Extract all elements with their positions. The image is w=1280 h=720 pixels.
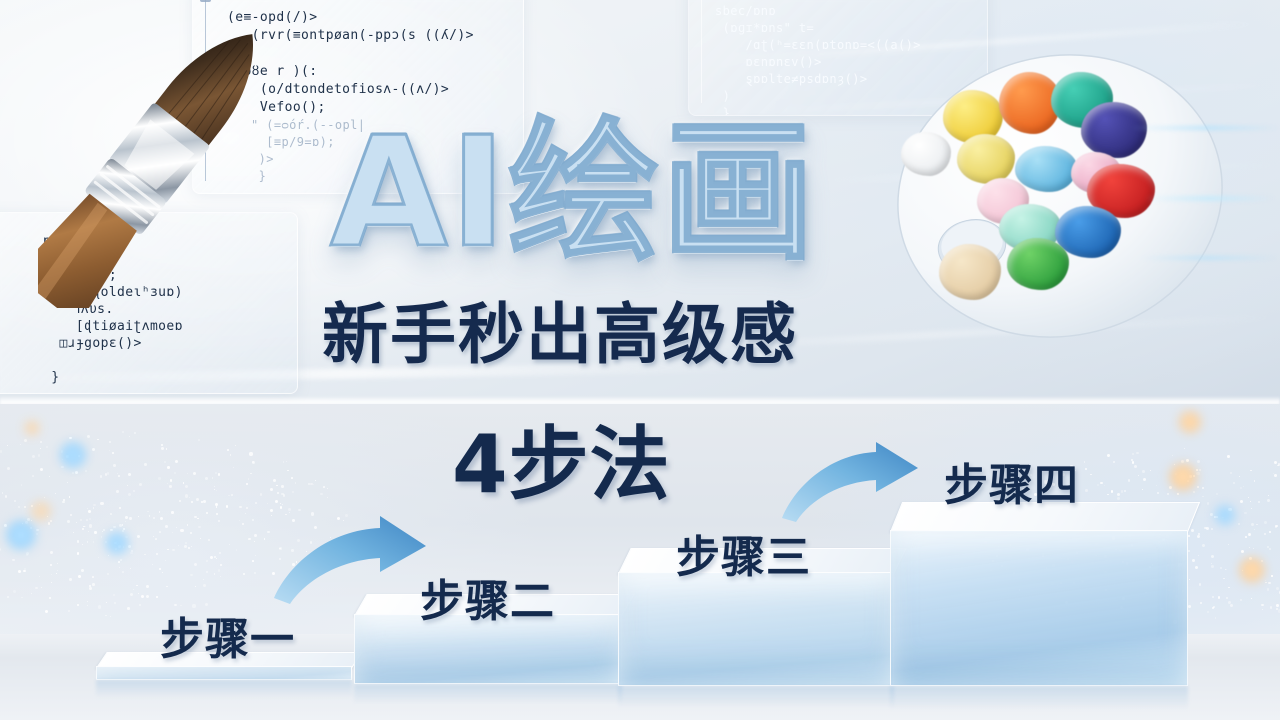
particle	[1250, 470, 1252, 472]
particle	[162, 572, 163, 573]
particle	[283, 461, 285, 463]
particle	[1256, 524, 1257, 525]
particle	[1227, 455, 1230, 458]
particle	[283, 494, 286, 497]
particle	[190, 532, 192, 534]
particle	[1269, 531, 1271, 533]
bokeh-glow	[1214, 504, 1236, 526]
particle	[214, 486, 215, 487]
particle	[1268, 582, 1270, 584]
particle	[191, 546, 192, 547]
particle	[167, 549, 169, 551]
arrow-step-one-to-two	[268, 514, 438, 604]
particle	[1245, 536, 1247, 538]
particle	[7, 445, 8, 446]
particle	[92, 583, 95, 586]
particle	[187, 473, 188, 474]
particle	[128, 473, 131, 476]
particle	[109, 450, 111, 452]
particle	[1191, 529, 1194, 532]
particle	[152, 564, 154, 566]
particle	[166, 586, 168, 588]
palette-blob-sky-blue	[1015, 146, 1077, 192]
particle	[308, 483, 310, 485]
particle	[172, 532, 174, 534]
particle	[112, 452, 114, 454]
particle	[72, 472, 74, 474]
particle	[215, 503, 218, 506]
particle	[1265, 582, 1267, 584]
particle	[164, 461, 166, 463]
particle	[220, 564, 223, 567]
step-reflection	[354, 684, 622, 704]
particle	[51, 574, 52, 575]
particle	[1226, 569, 1227, 570]
particle	[141, 595, 144, 598]
particle	[1121, 490, 1124, 493]
particle	[180, 605, 182, 607]
particle	[1230, 604, 1233, 607]
particle	[1251, 508, 1252, 509]
particle	[252, 560, 254, 562]
particle	[288, 508, 291, 511]
particle	[1107, 494, 1108, 495]
particle	[1128, 479, 1130, 481]
particle	[44, 497, 45, 498]
particle	[205, 477, 208, 480]
particle	[180, 529, 183, 532]
particle	[1142, 470, 1145, 473]
particle	[73, 532, 75, 534]
page-title: AI绘画	[330, 98, 890, 288]
particle	[7, 467, 10, 470]
particle	[1211, 563, 1212, 564]
particle	[1084, 461, 1085, 462]
particle	[107, 472, 110, 475]
step-four-label: 步骤四	[944, 464, 1079, 508]
particle	[206, 512, 208, 514]
particle	[50, 520, 52, 522]
step-front-face	[890, 530, 1188, 686]
particle	[246, 507, 248, 509]
paintbrush-icon	[38, 18, 306, 308]
particle	[231, 494, 233, 496]
particle	[201, 501, 203, 503]
step-four[interactable]	[890, 502, 1188, 690]
particle	[1156, 485, 1158, 487]
particle	[101, 536, 103, 538]
particle	[32, 475, 34, 477]
particle	[1202, 544, 1205, 547]
particle	[1138, 475, 1139, 476]
particle	[208, 539, 210, 541]
particle	[1240, 599, 1242, 601]
particle	[98, 557, 99, 558]
particle	[120, 559, 122, 561]
particle	[7, 596, 9, 598]
particle	[291, 477, 293, 479]
particle	[1184, 448, 1185, 449]
step-reflection	[890, 686, 1188, 710]
paint-palette-icon	[895, 46, 1225, 346]
particle	[1262, 609, 1263, 610]
particle	[82, 544, 83, 545]
particle	[1177, 493, 1179, 495]
particle	[87, 435, 90, 438]
particle	[97, 439, 98, 440]
particle	[82, 528, 84, 530]
particle	[1192, 559, 1195, 562]
particle	[161, 444, 163, 446]
particle	[1124, 490, 1126, 492]
step-one-label: 步骤一	[160, 618, 295, 662]
particle	[138, 593, 140, 595]
particle	[216, 558, 217, 559]
particle	[0, 450, 2, 453]
particle	[41, 587, 42, 588]
particle	[129, 517, 132, 520]
particle	[1261, 604, 1263, 606]
particle	[77, 552, 80, 555]
particle	[287, 470, 288, 471]
particle	[327, 497, 329, 499]
particle	[216, 513, 219, 516]
particle	[119, 567, 121, 569]
particle	[89, 524, 92, 527]
particle	[192, 604, 195, 607]
particle	[1085, 468, 1087, 470]
particle	[118, 561, 121, 564]
particle	[242, 523, 244, 525]
step-reflection	[96, 680, 352, 698]
particle	[203, 500, 206, 503]
particle	[194, 563, 197, 566]
particle	[295, 482, 297, 484]
particle	[1197, 460, 1200, 463]
particle	[39, 576, 40, 577]
particle	[254, 572, 256, 574]
particle	[156, 553, 158, 555]
particle	[281, 485, 284, 488]
particle	[57, 563, 58, 564]
particle	[167, 483, 168, 484]
particle	[280, 503, 281, 504]
particle	[171, 511, 174, 514]
particle	[1210, 513, 1213, 516]
particle	[1230, 472, 1232, 474]
particle	[1195, 566, 1198, 569]
particle	[1265, 580, 1266, 581]
particle	[280, 506, 282, 508]
particle	[286, 461, 288, 463]
particle	[113, 464, 116, 467]
particle	[76, 522, 77, 523]
poster-canvas: (e≡-opd(/)> (rvr(≡ontpøan(-ppɔ(s ((ʎ/)> …	[0, 0, 1280, 720]
particle	[1240, 487, 1242, 489]
particle	[197, 518, 198, 519]
particle	[1241, 550, 1244, 553]
palette-blob-navy	[1081, 102, 1147, 158]
particle	[159, 568, 162, 571]
particle	[113, 594, 115, 596]
particle	[1226, 597, 1228, 599]
particle	[144, 463, 147, 466]
particle	[228, 495, 230, 497]
particle	[1188, 535, 1190, 537]
particle	[170, 479, 173, 482]
particle	[160, 517, 163, 520]
bokeh-glow	[1168, 462, 1198, 492]
particle	[24, 506, 26, 508]
particle	[78, 575, 81, 578]
particle	[313, 484, 315, 486]
particle	[119, 507, 121, 509]
particle	[144, 554, 145, 555]
particle	[1100, 482, 1103, 485]
particle	[1270, 606, 1273, 609]
particle	[1197, 535, 1200, 538]
particle	[289, 512, 290, 513]
particle	[21, 597, 23, 599]
particle	[1264, 521, 1267, 524]
particle	[158, 477, 161, 480]
particle	[1134, 465, 1137, 468]
bokeh-glow	[30, 500, 52, 522]
particle	[88, 510, 91, 513]
particle	[249, 452, 252, 455]
particle	[136, 585, 138, 587]
bokeh-glow	[58, 440, 88, 470]
particle	[1167, 493, 1168, 494]
particle	[277, 492, 279, 494]
palette-blob-green	[1007, 238, 1069, 290]
particle	[282, 504, 283, 505]
particle	[40, 468, 43, 471]
particle	[245, 513, 246, 514]
palette-blob-white	[901, 132, 951, 176]
particle	[215, 472, 217, 474]
particle	[270, 509, 273, 512]
particle	[255, 502, 258, 505]
particle	[178, 545, 179, 546]
particle	[174, 472, 177, 475]
particle	[1104, 485, 1105, 486]
step-front-face	[618, 572, 894, 686]
particle	[188, 547, 190, 549]
particle	[194, 516, 196, 518]
particle	[270, 488, 273, 491]
particle	[77, 604, 79, 606]
particle	[110, 616, 111, 617]
particle	[1218, 596, 1220, 598]
particle	[1117, 493, 1120, 496]
particle	[216, 490, 218, 492]
particle	[146, 595, 149, 598]
particle	[1238, 523, 1240, 525]
particle	[218, 569, 221, 572]
particle	[1233, 482, 1235, 484]
particle	[1085, 489, 1088, 492]
particle	[49, 597, 52, 600]
particle	[1211, 555, 1214, 558]
particle	[315, 480, 316, 481]
particle	[264, 538, 266, 540]
particle	[130, 568, 131, 569]
particle	[187, 524, 189, 526]
particle	[1239, 476, 1241, 478]
particle	[1211, 565, 1214, 568]
particle	[254, 534, 257, 537]
particle	[1240, 500, 1243, 503]
particle	[239, 506, 241, 508]
particle	[1188, 605, 1191, 608]
particle	[206, 560, 208, 562]
particle	[1264, 533, 1266, 535]
particle	[298, 509, 300, 511]
particle	[1172, 455, 1173, 456]
particle	[89, 587, 92, 590]
particle	[172, 549, 174, 551]
particle	[106, 602, 107, 603]
particle	[133, 589, 134, 590]
particle	[159, 531, 161, 533]
particle	[87, 541, 88, 542]
particle	[81, 569, 84, 572]
particle	[40, 448, 41, 449]
particle	[69, 437, 72, 440]
particle	[255, 555, 256, 556]
particle	[57, 570, 58, 571]
particle	[196, 498, 199, 501]
particle	[93, 504, 96, 507]
particle	[118, 475, 120, 477]
particle	[243, 573, 245, 575]
particle	[1132, 453, 1134, 455]
particle	[51, 582, 53, 584]
particle	[218, 520, 220, 522]
top-scene: (e≡-opd(/)> (rvr(≡ontpøan(-ppɔ(s ((ʎ/)> …	[0, 0, 1280, 404]
particle	[1269, 548, 1271, 550]
palette-blob-pale-yellow	[957, 134, 1015, 184]
particle	[1111, 490, 1114, 493]
particle	[26, 554, 28, 556]
arrow-step-three-to-four	[778, 440, 928, 522]
particle	[276, 485, 278, 487]
step-front-face	[96, 666, 352, 680]
particle	[1188, 550, 1190, 552]
particle	[23, 570, 26, 573]
particle	[1254, 529, 1255, 530]
particle	[125, 521, 126, 522]
particle	[1136, 452, 1139, 455]
particle	[267, 503, 268, 504]
particle	[134, 432, 136, 434]
particle	[1258, 501, 1261, 504]
particle	[185, 494, 188, 497]
particle	[185, 485, 188, 488]
step-reflection	[618, 686, 894, 708]
particle	[149, 515, 151, 517]
particle	[5, 495, 8, 498]
particle	[190, 574, 193, 577]
particle	[1200, 602, 1202, 604]
particle	[216, 506, 218, 508]
particle	[1211, 528, 1213, 530]
particle	[130, 593, 133, 596]
particle	[86, 519, 88, 521]
particle	[1276, 587, 1279, 590]
particle	[1251, 523, 1254, 526]
particle	[1157, 492, 1159, 494]
particle	[1107, 454, 1110, 457]
particle	[89, 518, 91, 520]
code-panel-rail	[701, 0, 702, 103]
particle	[92, 576, 94, 578]
particle	[1143, 478, 1146, 481]
particle	[229, 544, 230, 545]
particle	[129, 436, 130, 437]
particle	[18, 570, 21, 573]
particle	[105, 615, 106, 616]
particle	[138, 516, 139, 517]
particle	[219, 552, 221, 554]
particle	[165, 525, 168, 528]
particle	[114, 602, 116, 604]
particle	[87, 605, 88, 606]
particle	[12, 559, 14, 561]
particle	[116, 490, 119, 493]
particle	[155, 538, 157, 540]
particle	[189, 497, 190, 498]
particle	[125, 516, 128, 519]
particle	[1254, 480, 1256, 482]
particle	[31, 593, 32, 594]
particle	[153, 517, 155, 519]
particle	[235, 445, 236, 446]
particle	[1249, 547, 1250, 548]
particle	[1251, 598, 1252, 599]
particle	[122, 571, 124, 573]
particle	[48, 522, 51, 525]
page-subtitle: 新手秒出高级感	[322, 296, 922, 374]
step-three-label: 步骤三	[676, 536, 811, 580]
particle	[70, 514, 73, 517]
particle	[198, 439, 200, 441]
particle	[127, 607, 130, 610]
particle	[1132, 461, 1135, 464]
particle	[246, 483, 248, 485]
particle	[1207, 611, 1209, 613]
particle	[191, 501, 193, 503]
particle	[1220, 567, 1222, 569]
particle	[205, 603, 208, 606]
particle	[1090, 474, 1092, 476]
particle	[50, 551, 53, 554]
particle	[0, 548, 1, 551]
particle	[159, 511, 161, 513]
particle	[87, 508, 88, 509]
particle	[227, 449, 229, 451]
particle	[1228, 587, 1230, 589]
particle	[156, 596, 158, 598]
particle	[107, 573, 109, 575]
particle	[67, 482, 68, 483]
particle	[1193, 491, 1196, 494]
particle	[93, 507, 94, 508]
particle	[109, 441, 111, 443]
particle	[1274, 461, 1277, 464]
particle	[2, 492, 4, 494]
